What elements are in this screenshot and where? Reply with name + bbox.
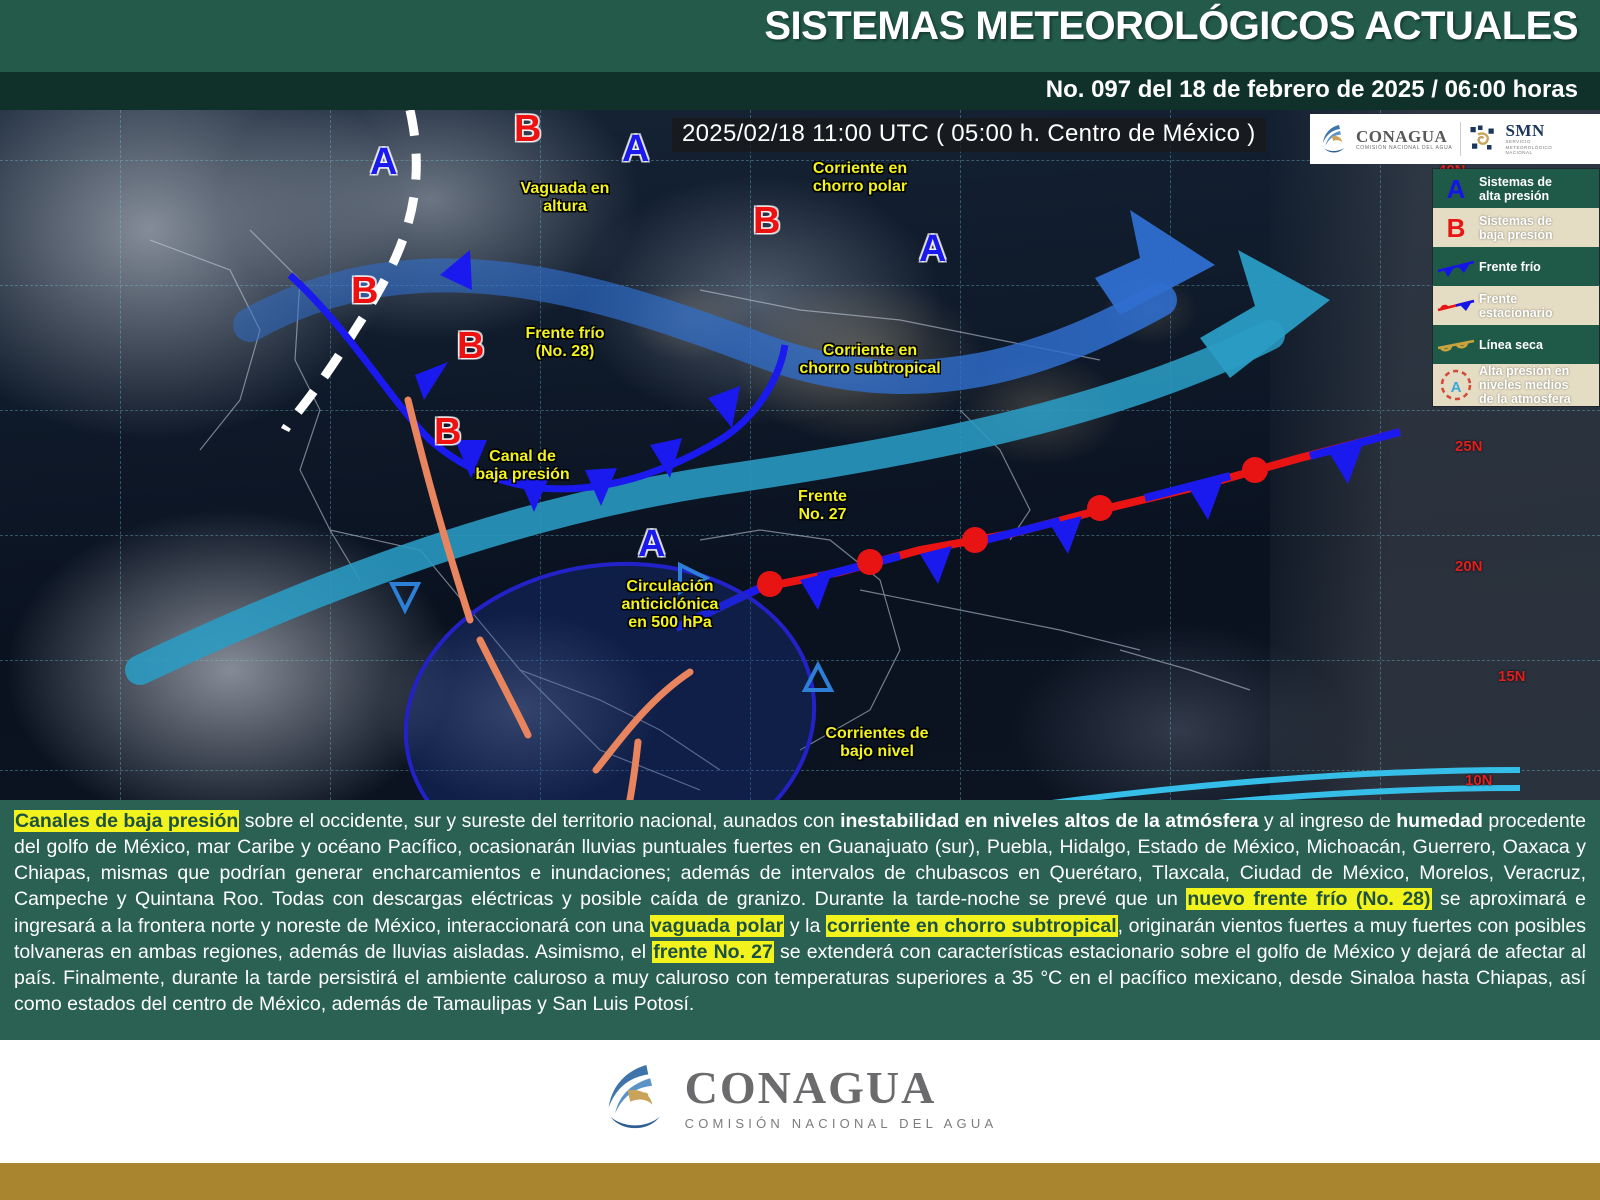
conagua-logo: CONAGUA COMISIÓN NACIONAL DEL AGUA <box>1320 123 1452 155</box>
cold-front-icon <box>1433 257 1479 277</box>
legend-item-alta-presion: A Sistemas de alta presión <box>1433 169 1599 208</box>
conagua-footer-emblem-icon <box>603 1062 669 1134</box>
legend-label: Alta presión en niveles medios de la atm… <box>1479 364 1576 406</box>
dry-line-icon <box>1433 335 1479 355</box>
smn-emblem-icon <box>1469 124 1499 154</box>
legend-item-baja-presion: B Sistemas de baja presión <box>1433 208 1599 247</box>
lat-label-15n: 15N <box>1498 668 1526 685</box>
low-pressure-symbol: B <box>457 327 484 365</box>
svg-text:A: A <box>1451 379 1462 396</box>
legend-label: Sistemas de alta presión <box>1479 175 1557 203</box>
page-title: SISTEMAS METEOROLÓGICOS ACTUALES <box>764 4 1578 49</box>
legend-item-alta-niveles-medios: A Alta presión en niveles medios de la a… <box>1433 364 1599 406</box>
mid-level-high-icon: A <box>1433 368 1479 402</box>
conagua-wordmark: CONAGUA <box>1356 128 1452 145</box>
satellite-map[interactable]: 40N 25N 20N 15N 10N A B A B A B B B A Va… <box>0 110 1600 800</box>
smn-tagline: SERVICIO METEOROLÓGICO NACIONAL <box>1505 139 1552 156</box>
forecast-description: Canales de baja presión sobre el occiden… <box>0 800 1600 1040</box>
lat-label-20n: 20N <box>1455 558 1483 575</box>
low-pressure-symbol: B <box>514 110 541 148</box>
low-pressure-symbol: B <box>434 413 461 451</box>
header-banner: SISTEMAS METEOROLÓGICOS ACTUALES <box>0 0 1600 72</box>
forecast-text: Canales de baja presión sobre el occiden… <box>14 810 1586 1015</box>
legend-item-frente-frio: Frente frío <box>1433 247 1599 286</box>
legend-label: Frente estacionario <box>1479 292 1558 320</box>
header-subtitle-bar: No. 097 del 18 de febrero de 2025 / 06:0… <box>0 72 1600 110</box>
map-legend: A Sistemas de alta presión B Sistemas de… <box>1432 168 1600 407</box>
weather-systems-overlay <box>0 110 1600 800</box>
high-pressure-symbol: A <box>370 143 397 181</box>
high-pressure-symbol: A <box>622 130 649 168</box>
legend-label: Sistemas de baja presión <box>1479 214 1558 242</box>
label-canal-de-baja-presion: Canal de baja presión <box>440 448 605 484</box>
label-frente-no-27: Frente No. 27 <box>770 488 875 524</box>
label-vaguada-en-altura: Vaguada en altura <box>495 180 635 216</box>
label-circulacion-anticiclonica: Circulación anticiclónica en 500 hPa <box>580 578 760 632</box>
low-pressure-symbol: B <box>351 272 378 310</box>
smn-logo: SMN SERVICIO METEOROLÓGICO NACIONAL <box>1469 122 1552 156</box>
lat-label-25n: 25N <box>1455 438 1483 455</box>
legend-label: Línea seca <box>1479 338 1548 352</box>
footer-white-gap <box>0 1155 1600 1163</box>
high-pressure-symbol: A <box>919 230 946 268</box>
label-corriente-chorro-polar: Corriente en chorro polar <box>770 160 950 196</box>
low-pressure-symbol: B <box>753 202 780 240</box>
label-corrientes-de-bajo-nivel: Corrientes de bajo nivel <box>792 725 962 761</box>
weather-bulletin-page: SISTEMAS METEOROLÓGICOS ACTUALES No. 097… <box>0 0 1600 1200</box>
high-pressure-a-icon: A <box>1433 176 1479 202</box>
legend-item-linea-seca: Línea seca <box>1433 325 1599 364</box>
low-pressure-b-icon: B <box>1433 215 1479 241</box>
high-pressure-symbol: A <box>638 525 665 563</box>
label-corriente-chorro-subtropical: Corriente en chorro subtropical <box>760 342 980 378</box>
bulletin-number-date: No. 097 del 18 de febrero de 2025 / 06:0… <box>1046 76 1578 104</box>
conagua-tagline: COMISIÓN NACIONAL DEL AGUA <box>1356 146 1452 151</box>
footer-logo: CONAGUA COMISIÓN NACIONAL DEL AGUA <box>0 1040 1600 1155</box>
logo-divider <box>1460 122 1461 156</box>
footer-tagline: COMISIÓN NACIONAL DEL AGUA <box>685 1116 998 1131</box>
footer-wordmark: CONAGUA <box>685 1065 998 1111</box>
footer-gold-bar <box>0 1163 1600 1200</box>
legend-label: Frente frío <box>1479 260 1546 274</box>
label-frente-frio-28: Frente frío (No. 28) <box>495 325 635 361</box>
smn-wordmark: SMN <box>1505 122 1552 139</box>
conagua-emblem-icon <box>1320 123 1350 155</box>
lat-label-10n: 10N <box>1465 772 1493 789</box>
agency-logo-strip: CONAGUA COMISIÓN NACIONAL DEL AGUA SMN S… <box>1310 114 1600 164</box>
map-timestamp: 2025/02/18 11:00 UTC ( 05:00 h. Centro d… <box>672 118 1266 152</box>
legend-item-frente-estacionario: Frente estacionario <box>1433 286 1599 325</box>
polar-jet-stream <box>250 210 1215 377</box>
stationary-front-icon <box>1433 296 1479 316</box>
